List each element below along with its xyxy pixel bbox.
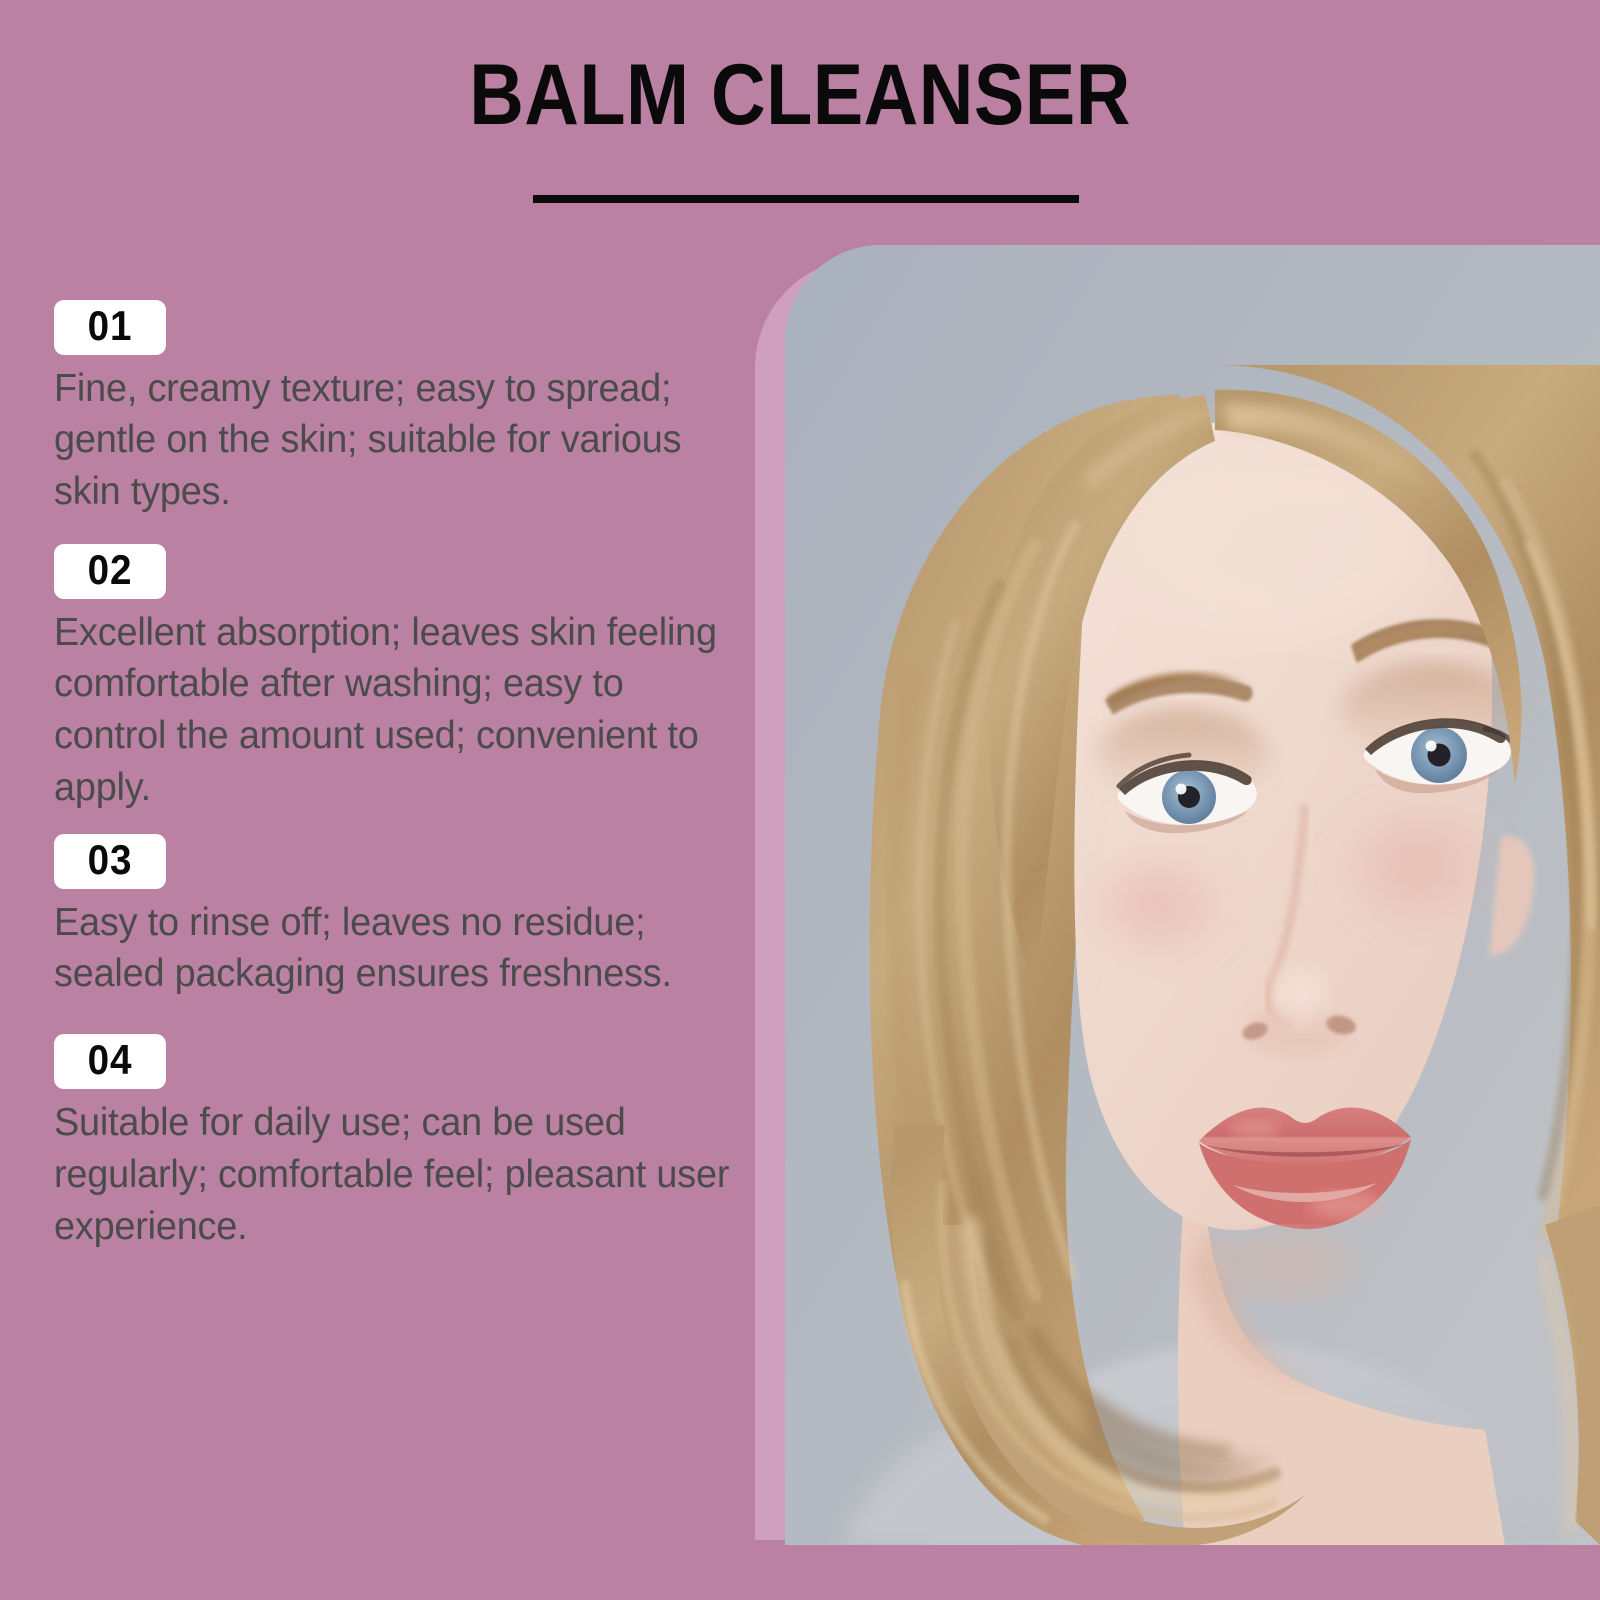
feature-text-04: Suitable for daily use; can be used regu…	[54, 1097, 733, 1253]
feature-badge-01: 01	[54, 300, 166, 355]
feature-badge-03: 03	[54, 834, 166, 889]
title-divider	[533, 195, 1079, 203]
feature-badge-02: 02	[54, 544, 166, 599]
feature-item-04: 04 Suitable for daily use; can be used r…	[54, 1034, 754, 1252]
feature-badge-04: 04	[54, 1034, 166, 1089]
feature-text-02: Excellent absorption; leaves skin feelin…	[54, 607, 733, 814]
feature-item-03: 03 Easy to rinse off; leaves no residue;…	[54, 834, 754, 1000]
product-photo-frame	[785, 245, 1600, 1545]
feature-number-04: 04	[77, 1038, 143, 1083]
feature-list: 01 Fine, creamy texture; easy to spread;…	[54, 300, 754, 1252]
feature-number-01: 01	[77, 304, 143, 349]
feature-item-02: 02 Excellent absorption; leaves skin fee…	[54, 544, 754, 814]
portrait-photo	[785, 245, 1600, 1545]
feature-text-03: Easy to rinse off; leaves no residue; se…	[54, 897, 733, 1001]
header: BALM CLEANSER	[0, 0, 1600, 240]
feature-number-03: 03	[77, 838, 143, 883]
feature-number-02: 02	[77, 548, 143, 593]
page-title: BALM CLEANSER	[96, 52, 1504, 138]
feature-item-01: 01 Fine, creamy texture; easy to spread;…	[54, 300, 754, 518]
poster-root: BALM CLEANSER	[0, 0, 1600, 1600]
feature-text-01: Fine, creamy texture; easy to spread; ge…	[54, 363, 733, 519]
